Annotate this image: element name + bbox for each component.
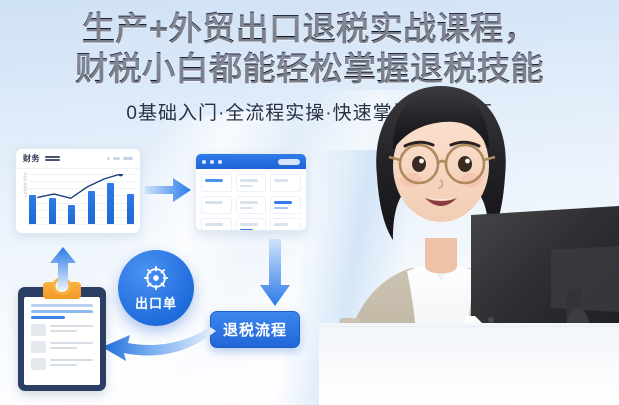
window-search-pill — [278, 159, 300, 165]
clipboard-paper — [24, 297, 100, 385]
paper-row — [31, 358, 93, 370]
gear-target-icon — [143, 265, 169, 291]
table-row — [201, 174, 301, 192]
table-cell — [236, 174, 267, 192]
chart-card-title: 财务 — [23, 153, 40, 164]
table-cell — [270, 218, 301, 231]
table-cell — [270, 196, 301, 214]
badge-label: 出口单 — [135, 293, 177, 312]
tax-refund-process-button[interactable]: 退税流程 — [210, 311, 300, 348]
promo-banner: 生产+外贸出口退税实战课程， 财税小白都能轻松掌握退税技能 0基础入门·全流程实… — [0, 0, 619, 405]
paper-text — [50, 341, 93, 352]
document-clipboard — [18, 287, 106, 391]
paper-text — [50, 358, 93, 369]
paper-line — [31, 304, 93, 307]
window-dot-close — [202, 160, 206, 164]
table-cell — [236, 196, 267, 214]
photo-area — [319, 0, 619, 405]
window-dot-maximize — [218, 160, 222, 164]
window-table — [196, 169, 306, 231]
paper-line-highlight — [31, 316, 65, 319]
export-doc-badge[interactable]: 出口单 — [118, 250, 194, 326]
paper-thumb — [31, 358, 46, 370]
table-cell — [201, 174, 232, 192]
desk-edge — [319, 326, 619, 327]
table-cell — [236, 218, 267, 231]
table-cell — [201, 196, 232, 214]
chart-plot-area: 70 60 50 40 30 20 10 0 — [16, 169, 140, 234]
arrow-up-icon — [48, 245, 78, 291]
illustration-group: 财务 70 60 50 40 30 20 10 0 — [0, 135, 330, 405]
table-cell — [201, 218, 232, 231]
paper-row — [31, 341, 93, 353]
paper-thumb — [31, 324, 46, 336]
chart-header-dashes — [45, 155, 60, 163]
table-row — [201, 218, 301, 231]
y-tick: 0 — [18, 195, 27, 198]
system-window-card — [195, 153, 307, 231]
chart-card-header: 财务 — [16, 149, 140, 169]
finance-chart-card: 财务 70 60 50 40 30 20 10 0 — [15, 148, 141, 234]
paper-line — [31, 310, 93, 313]
arrow-right-icon — [143, 175, 193, 205]
window-dot-minimize — [210, 160, 214, 164]
arrow-down-icon — [258, 237, 292, 309]
paper-thumb — [31, 341, 46, 353]
chart-x-labels — [29, 233, 134, 234]
table-row — [201, 196, 301, 214]
chart-header-indicators — [107, 157, 133, 160]
chart-trend-line — [29, 174, 129, 224]
window-titlebar — [196, 154, 306, 169]
desk-surface — [319, 323, 619, 405]
process-button-label: 退税流程 — [223, 322, 287, 339]
chart-y-axis: 70 60 50 40 30 20 10 0 — [18, 173, 27, 225]
table-cell — [270, 174, 301, 192]
paper-row — [31, 324, 93, 336]
paper-text — [50, 324, 93, 335]
arrow-curve-left-icon — [98, 325, 218, 373]
